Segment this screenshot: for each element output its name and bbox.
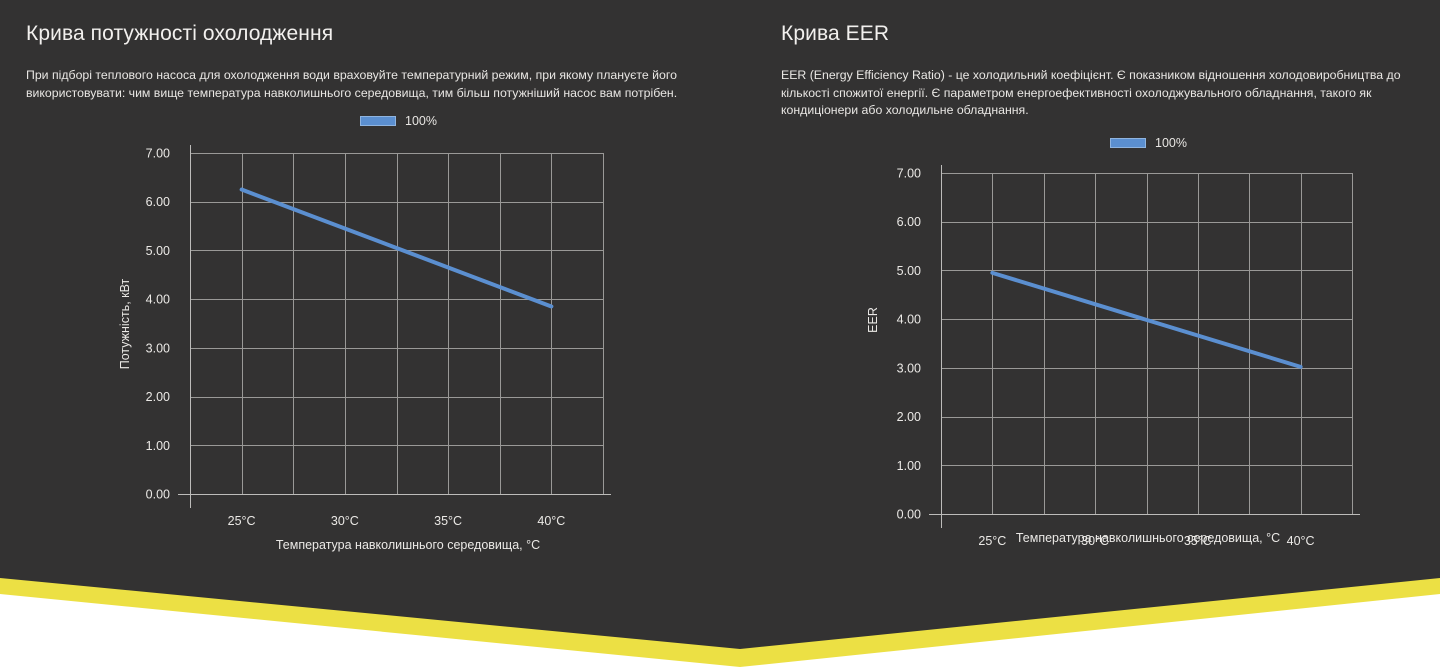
y-tick-label: 0.00 xyxy=(897,508,921,522)
y-tick-label: 2.00 xyxy=(146,390,170,404)
x-tick-label: 25°C xyxy=(978,534,1006,548)
x-tick-label: 40°C xyxy=(537,514,565,528)
y-tick-label: 7.00 xyxy=(146,147,170,161)
y-tick-label: 2.00 xyxy=(897,410,921,424)
y-axis-title-cooling: Потужність, кВт xyxy=(118,278,132,369)
y-tick-label: 1.00 xyxy=(146,439,170,453)
series-line-100% xyxy=(242,190,552,307)
page-root: Крива потужності охолодження При підборі… xyxy=(0,0,1440,671)
y-tick-label: 4.00 xyxy=(897,313,921,327)
y-tick-label: 0.00 xyxy=(146,488,170,502)
y-tick-label: 6.00 xyxy=(146,195,170,209)
x-tick-label: 25°C xyxy=(228,514,256,528)
y-tick-label: 5.00 xyxy=(897,264,921,278)
y-tick-label: 5.00 xyxy=(146,244,170,258)
x-axis-title-eer: Температура навколишнього середовища, °C xyxy=(1016,531,1280,545)
y-tick-label: 3.00 xyxy=(897,361,921,375)
x-tick-label: 40°C xyxy=(1287,534,1315,548)
y-tick-label: 1.00 xyxy=(897,459,921,473)
x-axis-title-cooling: Температура навколишнього середовища, °C xyxy=(276,538,540,552)
y-tick-label: 4.00 xyxy=(146,293,170,307)
chart-cooling-capacity: 0.001.002.003.004.005.006.007.00 25°C30°… xyxy=(0,0,720,560)
y-tick-label: 7.00 xyxy=(897,167,921,181)
y-axis-title-eer: EER xyxy=(866,307,880,333)
y-tick-label: 6.00 xyxy=(897,215,921,229)
x-tick-label: 30°C xyxy=(331,514,359,528)
chart-eer-curve: 0.001.002.003.004.005.006.007.00 25°C30°… xyxy=(760,20,1440,580)
x-tick-label: 35°C xyxy=(434,514,462,528)
y-tick-label: 3.00 xyxy=(146,341,170,355)
page-content: Крива потужності охолодження При підборі… xyxy=(0,0,1440,671)
